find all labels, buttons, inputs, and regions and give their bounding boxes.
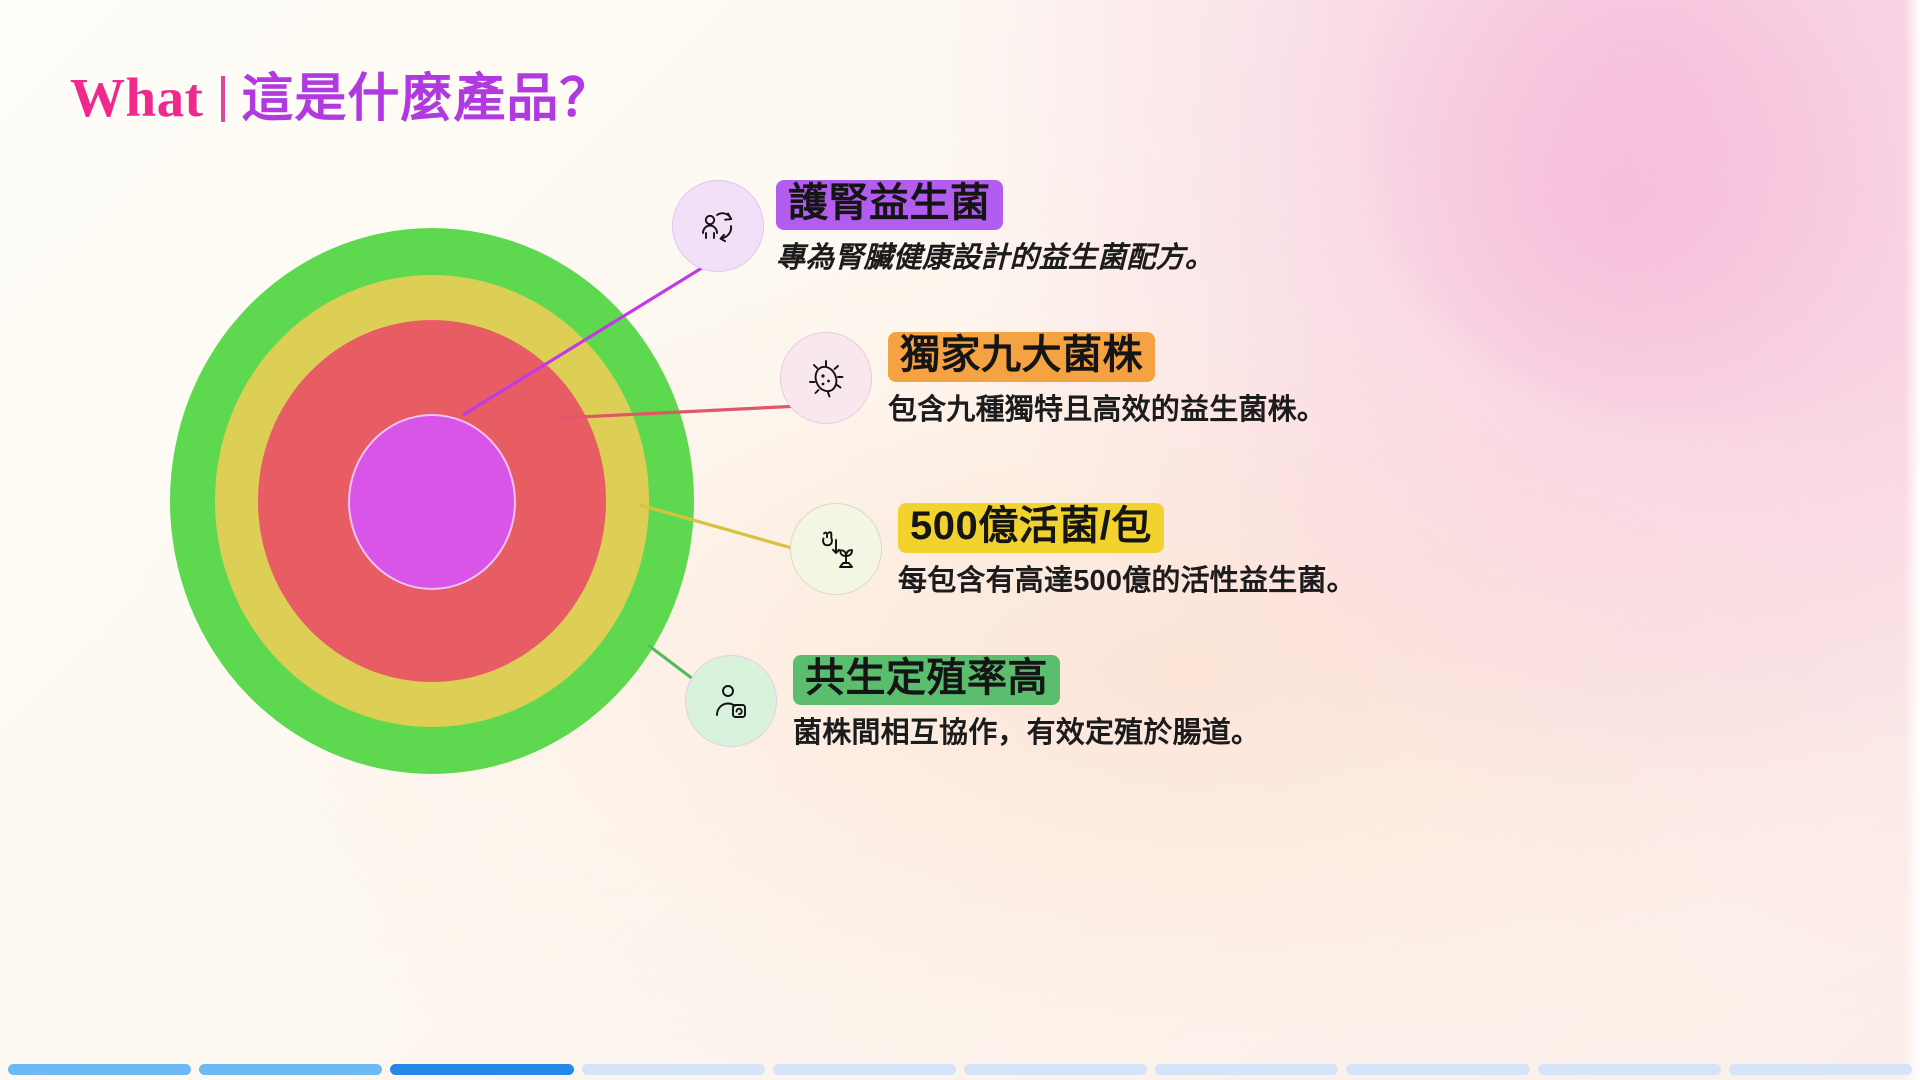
progress-segment-3[interactable]: [390, 1064, 573, 1075]
progress-segment-6[interactable]: [964, 1064, 1147, 1075]
progress-segment-1[interactable]: [8, 1064, 191, 1075]
person-recycle-icon: [672, 180, 764, 272]
callout-title: 500億活菌/包: [898, 503, 1164, 553]
callout-description: 菌株間相互協作，有效定殖於腸道。: [793, 714, 1260, 752]
callout-colonization-rate[interactable]: 共生定殖率高 菌株間相互協作，有效定殖於腸道。: [685, 655, 1260, 753]
decorative-pink-glow: [1370, 0, 1920, 420]
concentric-circles-diagram: [170, 228, 694, 774]
callout-title: 共生定殖率高: [793, 655, 1060, 705]
progress-segment-8[interactable]: [1346, 1064, 1529, 1075]
right-edge-fade: [1904, 0, 1920, 1080]
slide-progress-bar[interactable]: [0, 1062, 1920, 1080]
progress-segment-4[interactable]: [582, 1064, 765, 1075]
progress-segment-2[interactable]: [199, 1064, 382, 1075]
slide-canvas: What 這是什麼產品？ 護腎益生菌: [0, 0, 1920, 1080]
progress-segment-10[interactable]: [1729, 1064, 1912, 1075]
progress-segment-5[interactable]: [773, 1064, 956, 1075]
title-chinese: 這是什麼產品？: [241, 56, 612, 131]
callout-description: 包含九種獨特且高效的益生菌株。: [888, 391, 1326, 429]
callout-kidney-probiotic[interactable]: 護腎益生菌 專為腎臟健康設計的益生菌配方。: [672, 180, 1214, 278]
callout-description: 每包含有高達500億的活性益生菌。: [898, 562, 1356, 600]
progress-segment-7[interactable]: [1155, 1064, 1338, 1075]
callout-description: 專為腎臟健康設計的益生菌配方。: [776, 239, 1214, 277]
callout-title: 護腎益生菌: [776, 180, 1003, 230]
bullseye-core: [348, 414, 516, 590]
seedling-plant-icon: [790, 503, 882, 595]
callout-nine-strains[interactable]: 獨家九大菌株 包含九種獨特且高效的益生菌株。: [780, 332, 1326, 430]
title-divider: [221, 76, 225, 122]
page-title: What 這是什麼產品？: [70, 56, 612, 131]
person-gut-icon: [685, 655, 777, 747]
callout-fifty-billion[interactable]: 500億活菌/包 每包含有高達500億的活性益生菌。: [790, 503, 1356, 601]
title-english: What: [70, 66, 203, 129]
progress-segment-9[interactable]: [1538, 1064, 1721, 1075]
bacteria-icon: [780, 332, 872, 424]
callout-title: 獨家九大菌株: [888, 332, 1155, 382]
